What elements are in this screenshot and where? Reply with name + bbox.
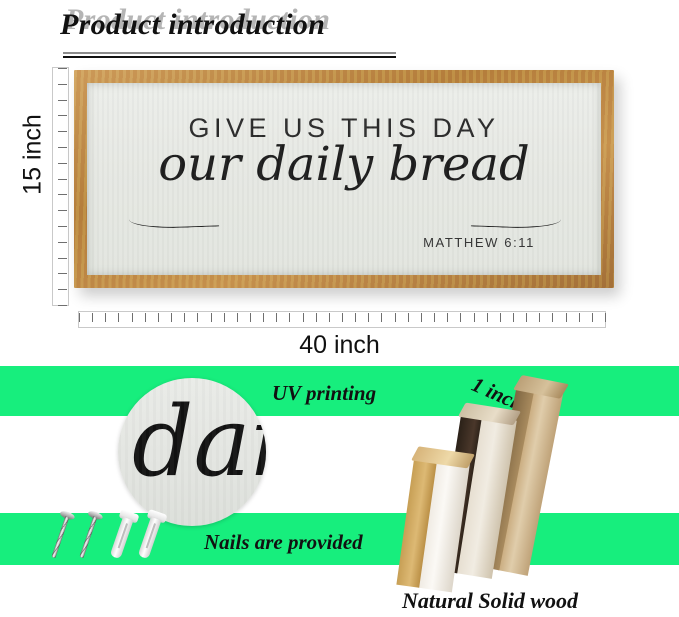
ruler-tick xyxy=(263,313,264,322)
ruler-tick xyxy=(58,68,67,69)
ruler-tick xyxy=(526,313,527,322)
ruler-tick xyxy=(58,84,67,85)
ruler-tick xyxy=(500,313,501,322)
ruler-tick xyxy=(92,313,93,322)
ruler-tick xyxy=(539,313,540,322)
ruler-tick xyxy=(355,313,356,322)
ruler-tick xyxy=(434,313,435,322)
ruler-tick xyxy=(276,313,277,322)
height-label: 15 inch xyxy=(19,110,48,200)
screw-icon xyxy=(77,511,101,559)
script-swash-right-icon xyxy=(471,209,562,229)
ruler-tick xyxy=(145,313,146,322)
ruler-tick xyxy=(132,313,133,322)
ruler-tick xyxy=(237,313,238,322)
nails-provided-label: Nails are provided xyxy=(204,530,363,555)
ruler-tick xyxy=(58,147,67,148)
ruler-tick xyxy=(58,100,67,101)
ruler-tick xyxy=(447,313,448,322)
title-underline-shadow xyxy=(63,52,396,54)
ruler-tick xyxy=(118,313,119,322)
ruler-tick xyxy=(158,313,159,322)
ruler-tick xyxy=(579,313,580,322)
ruler-tick xyxy=(395,313,396,322)
ruler-tick xyxy=(211,313,212,322)
ruler-tick xyxy=(381,313,382,322)
width-label: 40 inch xyxy=(0,331,679,360)
ruler-tick xyxy=(303,313,304,322)
ruler-tick xyxy=(552,313,553,322)
ruler-tick xyxy=(289,313,290,322)
ruler-tick xyxy=(184,313,185,322)
product-infographic: Product introduction 15 inch GIVE US THI… xyxy=(0,0,679,617)
ruler-tick xyxy=(58,289,67,290)
natural-solid-wood-label: Natural Solid wood xyxy=(402,588,578,614)
script-swash-left-icon xyxy=(129,209,220,229)
ruler-tick xyxy=(58,305,67,306)
horizontal-ruler xyxy=(78,311,606,328)
zoom-circle-text: dail xyxy=(132,394,266,490)
ruler-tick xyxy=(58,194,67,195)
ruler-tick xyxy=(58,131,67,132)
ruler-tick xyxy=(58,179,67,180)
wood-boards-illustration xyxy=(412,388,602,578)
ruler-tick xyxy=(408,313,409,322)
ruler-tick xyxy=(329,313,330,322)
ruler-tick xyxy=(566,313,567,322)
ruler-tick xyxy=(197,313,198,322)
mounting-hardware-illustration xyxy=(56,510,186,566)
ruler-tick xyxy=(368,313,369,322)
title-underline xyxy=(63,56,396,58)
ruler-tick xyxy=(105,313,106,322)
ruler-tick xyxy=(460,313,461,322)
ruler-tick xyxy=(58,210,67,211)
product-sign-frame: GIVE US THIS DAY our daily bread MATTHEW… xyxy=(74,70,614,288)
ruler-tick xyxy=(58,273,67,274)
ruler-tick xyxy=(224,313,225,322)
ruler-tick xyxy=(513,313,514,322)
ruler-tick xyxy=(58,226,67,227)
page-title-text: Product introduction xyxy=(60,8,325,42)
sign-verse-reference: MATTHEW 6:11 xyxy=(423,235,535,250)
sign-line-two: our daily bread xyxy=(87,141,601,188)
ruler-tick xyxy=(342,313,343,322)
screw-shaft xyxy=(79,516,97,558)
ruler-tick xyxy=(605,313,606,322)
uv-printing-zoom-circle: dail xyxy=(118,378,266,526)
ruler-tick xyxy=(58,163,67,164)
uv-printing-label: UV printing xyxy=(272,381,376,406)
ruler-tick xyxy=(79,313,80,322)
page-title: Product introduction xyxy=(60,8,420,60)
ruler-tick xyxy=(58,242,67,243)
ruler-tick xyxy=(474,313,475,322)
ruler-tick xyxy=(58,258,67,259)
wall-anchor-icon xyxy=(109,510,137,560)
wall-anchor-icon xyxy=(137,510,165,560)
ruler-tick xyxy=(250,313,251,322)
ruler-tick xyxy=(316,313,317,322)
vertical-ruler xyxy=(52,67,69,306)
ruler-tick xyxy=(487,313,488,322)
ruler-tick xyxy=(592,313,593,322)
product-sign-panel: GIVE US THIS DAY our daily bread MATTHEW… xyxy=(87,83,601,275)
ruler-tick xyxy=(171,313,172,322)
ruler-tick xyxy=(58,115,67,116)
ruler-tick xyxy=(421,313,422,322)
